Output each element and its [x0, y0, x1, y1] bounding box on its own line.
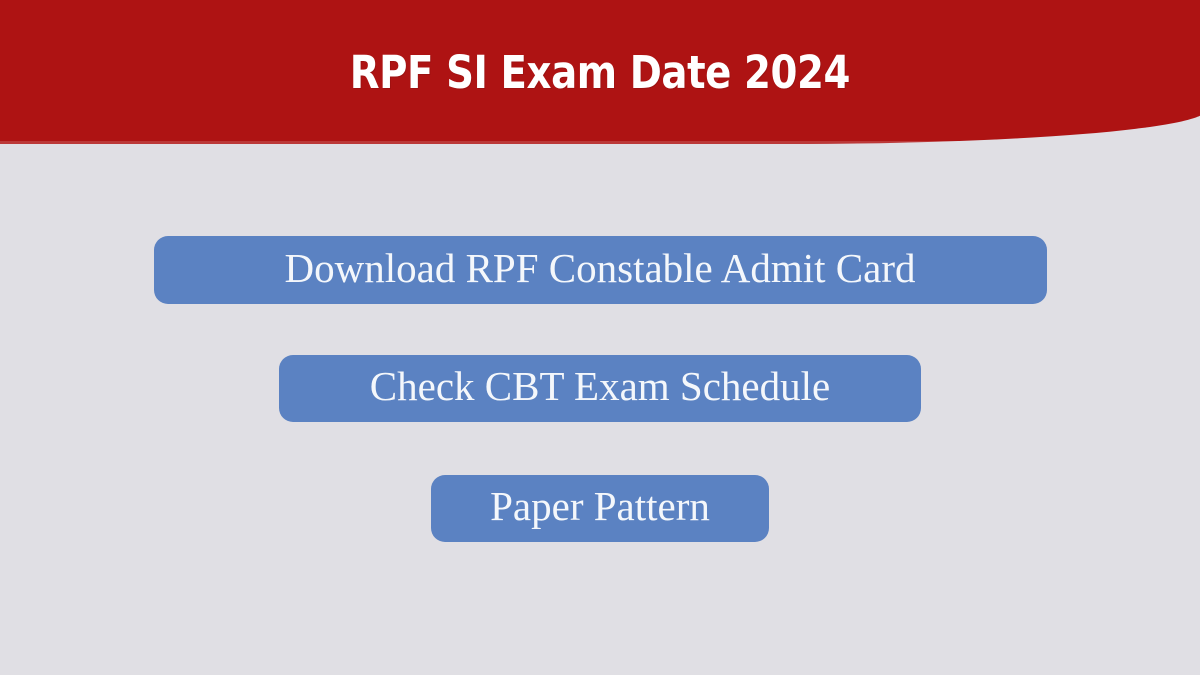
download-admit-card-label: Download RPF Constable Admit Card	[285, 248, 916, 289]
page-title: RPF SI Exam Date 2024	[350, 50, 850, 95]
check-cbt-exam-schedule-button[interactable]: Check CBT Exam Schedule	[279, 355, 921, 422]
paper-pattern-label: Paper Pattern	[490, 486, 710, 527]
header-banner: RPF SI Exam Date 2024	[0, 0, 1200, 144]
action-button-stack: Download RPF Constable Admit Card Check …	[0, 236, 1200, 542]
check-cbt-exam-schedule-label: Check CBT Exam Schedule	[370, 366, 830, 407]
page-root: RPF SI Exam Date 2024 Download RPF Const…	[0, 0, 1200, 675]
paper-pattern-button[interactable]: Paper Pattern	[431, 475, 769, 542]
download-rpf-constable-admit-card-button[interactable]: Download RPF Constable Admit Card	[154, 236, 1047, 304]
